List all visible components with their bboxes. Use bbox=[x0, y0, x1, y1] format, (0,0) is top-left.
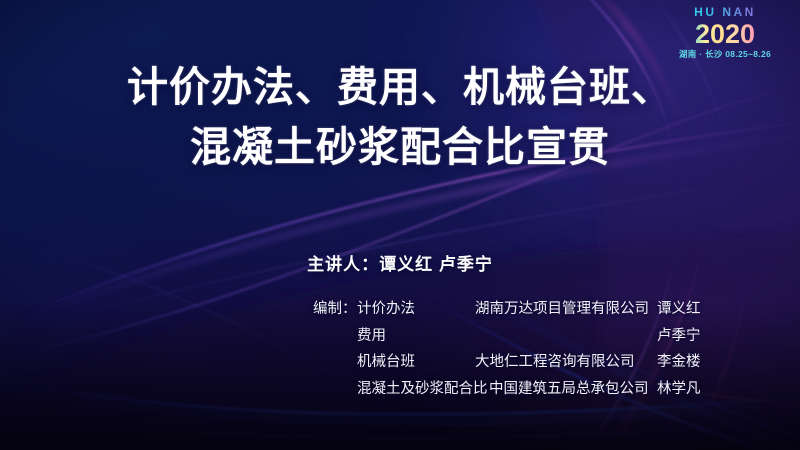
credit-row: 机械台班大地仁工程咨询有限公司李金楼 bbox=[313, 349, 701, 376]
credit-topic: 机械台班 bbox=[357, 349, 475, 376]
presentation-slide: HU NAN 2020 湖南 · 长沙 08.25~8.26 计价办法、费用、机… bbox=[0, 0, 800, 450]
title-line-2: 混凝土砂浆配合比宣贯 bbox=[0, 118, 800, 176]
credit-organization: 中国建筑五局总承包公司 bbox=[489, 376, 657, 403]
logo-region-text: HU NAN bbox=[666, 6, 784, 18]
logo-year-text: 2020 bbox=[666, 20, 784, 48]
presenter-line: 主讲人：谭义红 卢季宁 bbox=[0, 250, 800, 275]
credit-row: 混凝土及砂浆配合比中国建筑五局总承包公司林学凡 bbox=[313, 376, 701, 403]
credits-label: 编制： bbox=[313, 296, 357, 323]
credit-topic: 混凝土及砂浆配合比 bbox=[357, 376, 489, 403]
credit-row: 编制：计价办法湖南万达项目管理有限公司谭义红 bbox=[313, 296, 701, 323]
slide-title: 计价办法、费用、机械台班、 混凝土砂浆配合比宣贯 bbox=[0, 58, 800, 176]
credit-row: 费用卢季宁 bbox=[313, 323, 701, 350]
credit-topic: 费用 bbox=[357, 323, 475, 350]
credits-block: 编制：计价办法湖南万达项目管理有限公司谭义红 费用卢季宁 机械台班大地仁工程咨询… bbox=[313, 296, 701, 402]
credit-person: 谭义红 bbox=[657, 296, 701, 323]
credit-person: 卢季宁 bbox=[657, 323, 701, 350]
title-line-1: 计价办法、费用、机械台班、 bbox=[0, 58, 800, 116]
event-logo: HU NAN 2020 湖南 · 长沙 08.25~8.26 bbox=[666, 6, 784, 59]
credit-topic: 计价办法 bbox=[357, 296, 475, 323]
credit-organization: 湖南万达项目管理有限公司 bbox=[475, 296, 657, 323]
credit-person: 李金楼 bbox=[657, 349, 701, 376]
credit-organization: 大地仁工程咨询有限公司 bbox=[475, 349, 657, 376]
credit-person: 林学凡 bbox=[657, 376, 701, 403]
